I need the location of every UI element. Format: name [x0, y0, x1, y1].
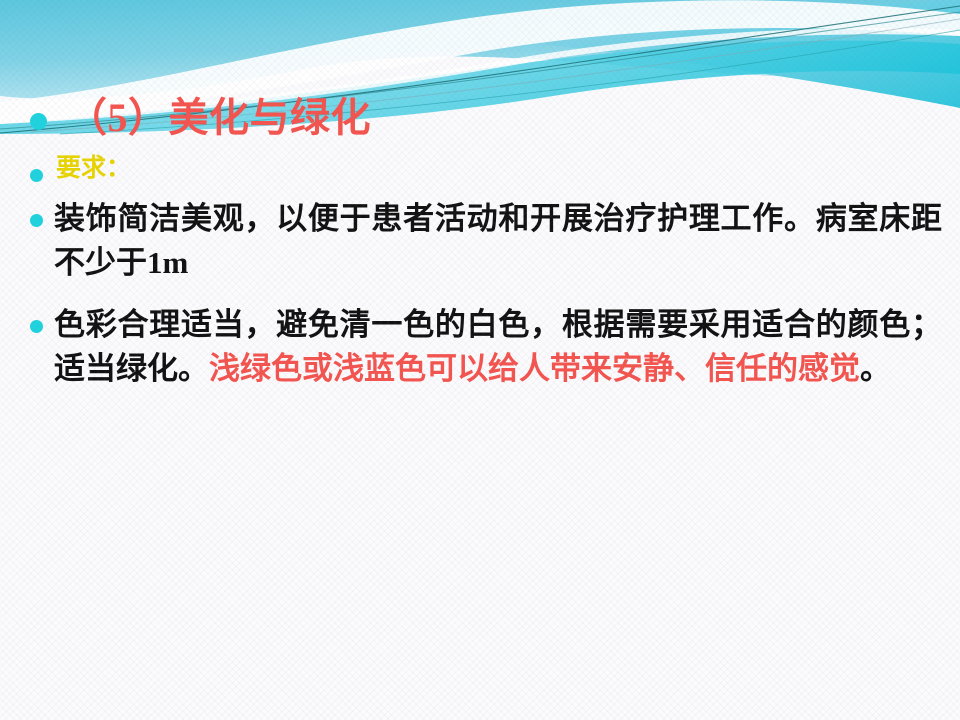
subtitle-label: 要求：	[56, 155, 942, 184]
filled-circle-bullet-icon	[30, 113, 47, 130]
filled-circle-bullet-icon	[30, 169, 43, 182]
page-title: （5）美化与绿化	[67, 96, 942, 141]
bullet-run-end: 。	[860, 351, 891, 386]
title-bullet-row: （5）美化与绿化	[0, 96, 960, 141]
filled-circle-bullet-icon	[30, 214, 43, 227]
slide-content: （5）美化与绿化 要求： 装饰简洁美观，以便于患者活动和开展治疗护理工作。病室床…	[0, 96, 960, 391]
filled-circle-bullet-icon	[30, 320, 43, 333]
bullet-run: 装饰简洁美观，以便于患者活动和开展治疗护理工作。病室床距不少于1m	[54, 201, 942, 280]
bullet-run-highlight: 浅绿色或浅蓝色可以给人带来安静、信任的感觉	[209, 351, 860, 386]
bullet-text-2: 色彩合理适当，避免清一色的白色，根据需要采用适合的颜色；适当绿化。浅绿色或浅蓝色…	[54, 303, 942, 391]
bullet-text-1: 装饰简洁美观，以便于患者活动和开展治疗护理工作。病室床距不少于1m	[54, 197, 942, 285]
subtitle-bullet-row: 要求：	[0, 155, 960, 184]
list-item: 装饰简洁美观，以便于患者活动和开展治疗护理工作。病室床距不少于1m	[0, 197, 960, 285]
list-item: 色彩合理适当，避免清一色的白色，根据需要采用适合的颜色；适当绿化。浅绿色或浅蓝色…	[0, 303, 960, 391]
slide: （5）美化与绿化 要求： 装饰简洁美观，以便于患者活动和开展治疗护理工作。病室床…	[0, 0, 960, 720]
